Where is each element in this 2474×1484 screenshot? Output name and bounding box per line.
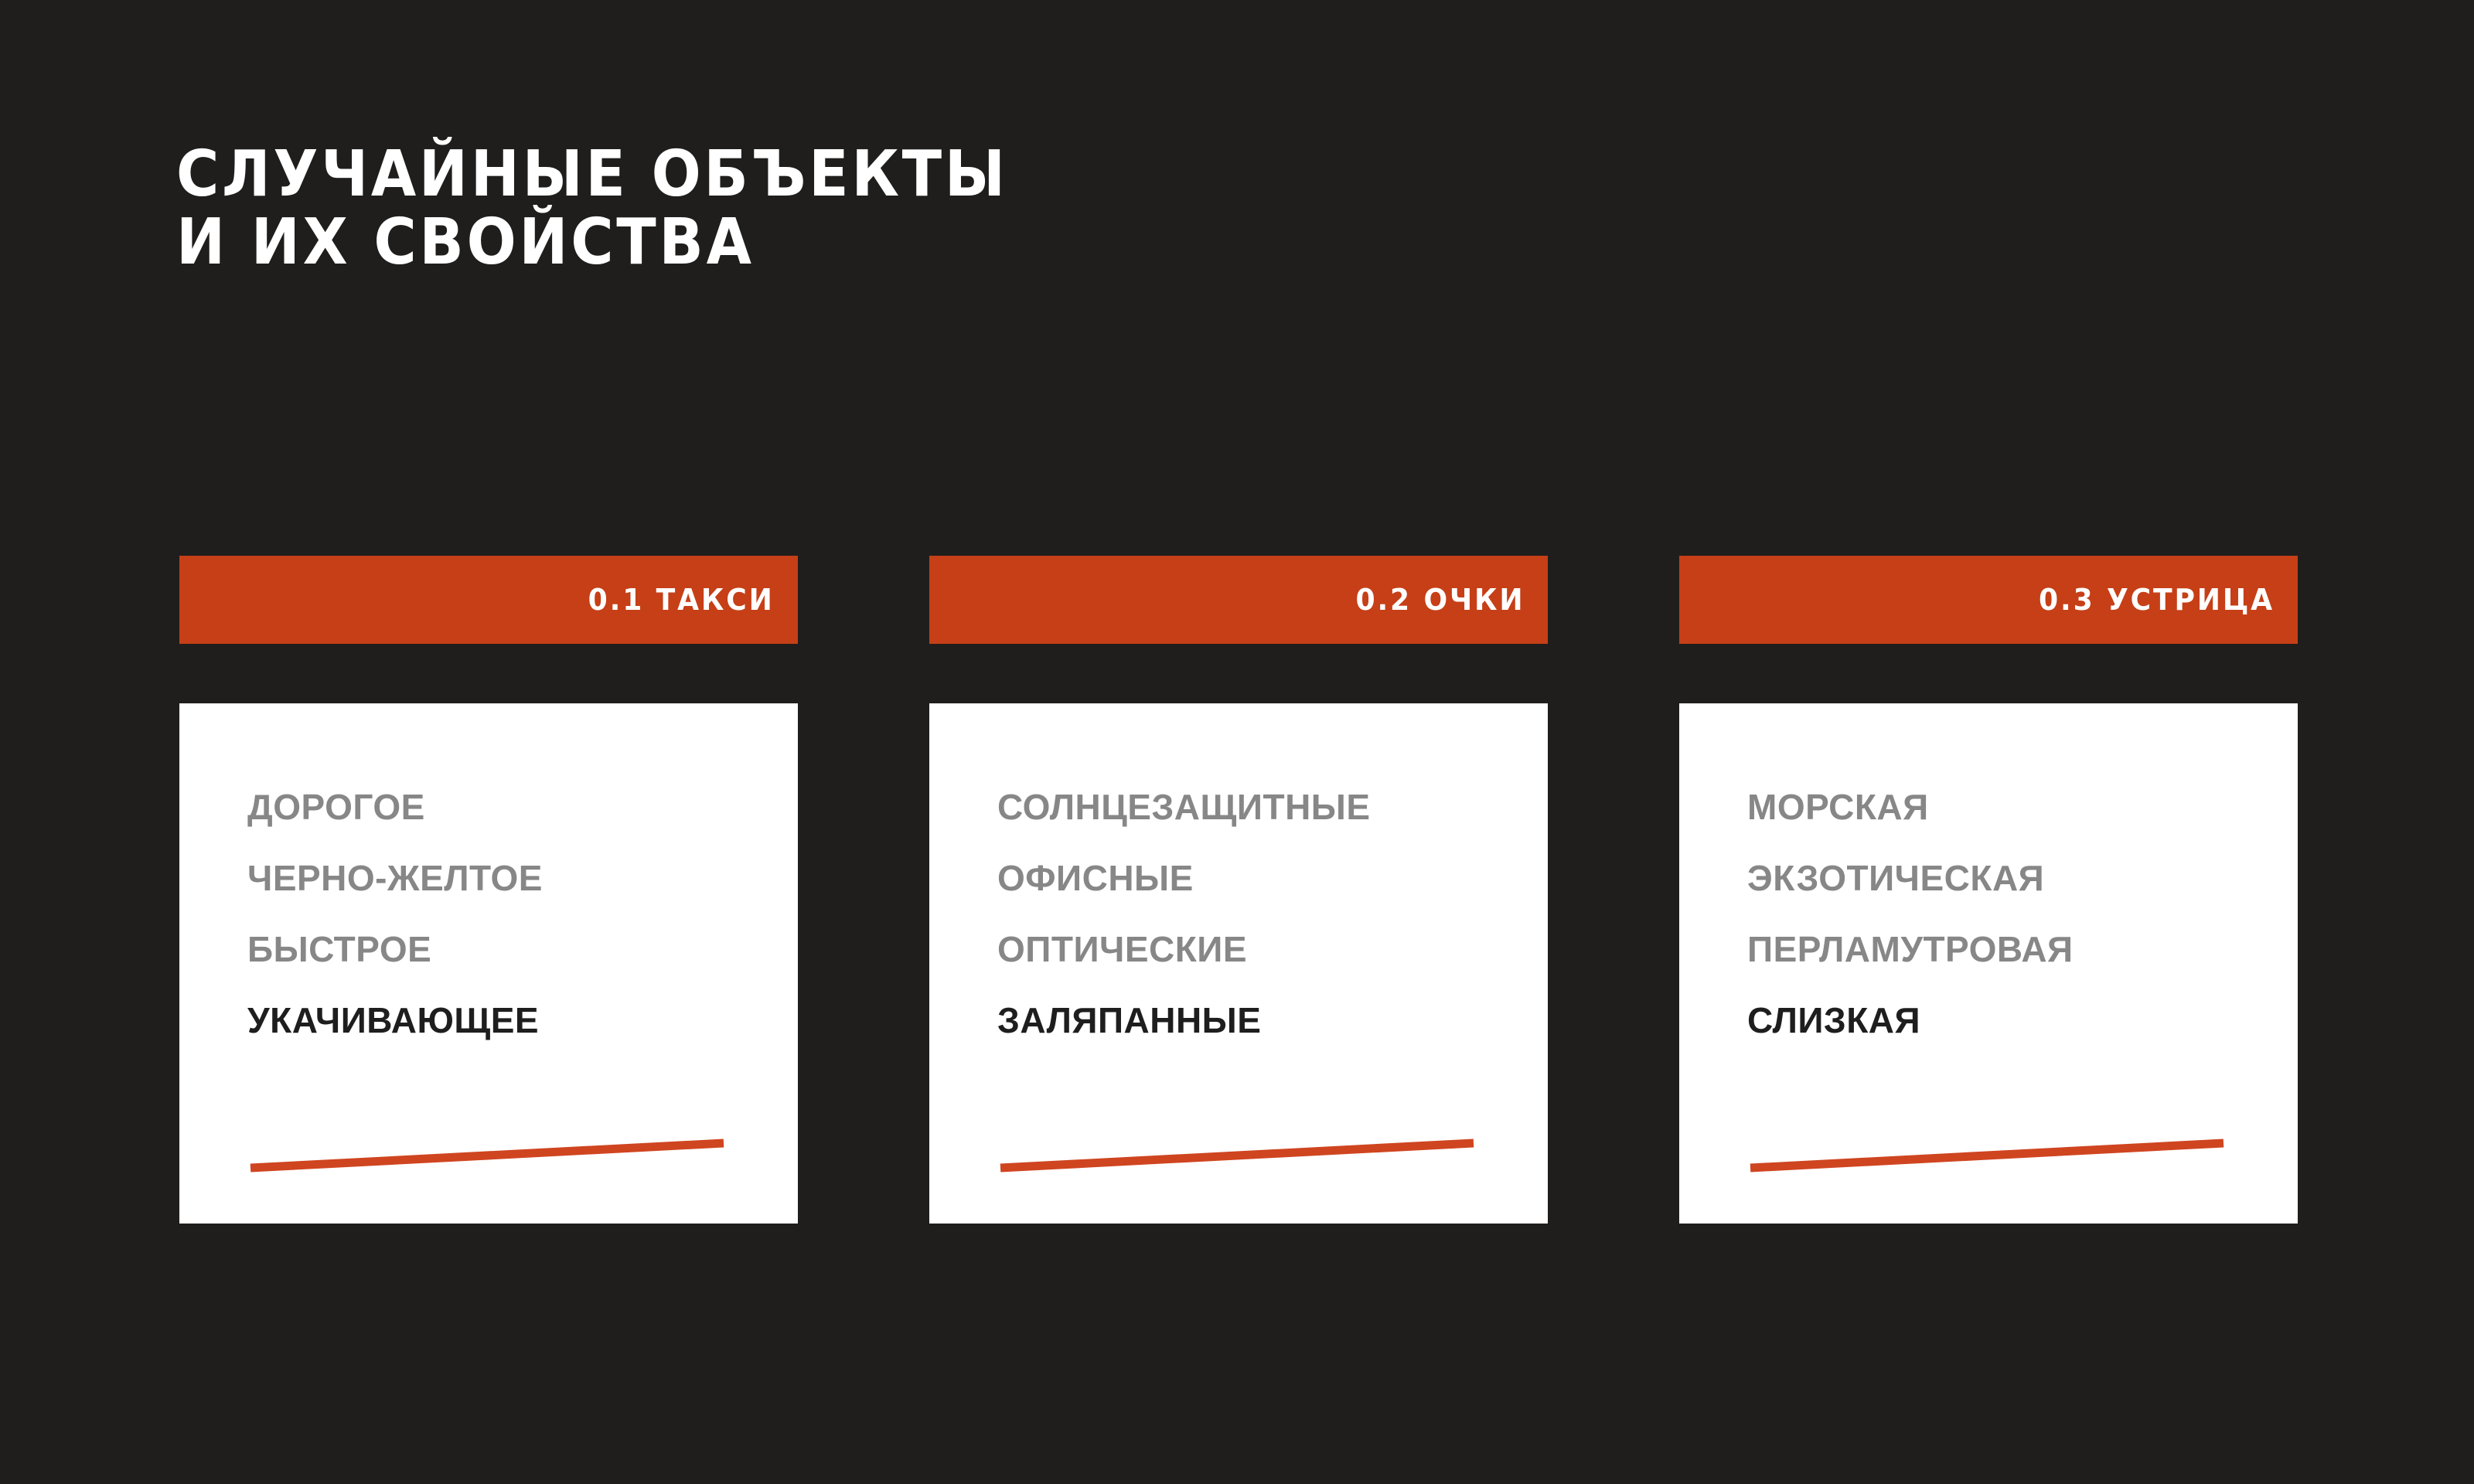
card-body-taxi: ДОРОГОЕ ЧЕРНО-ЖЕЛТОЕ БЫСТРОЕ УКАЧИВАЮЩЕЕ [179,703,798,1224]
object-card-taxi: 0.1 ТАКСИ ДОРОГОЕ ЧЕРНО-ЖЕЛТОЕ БЫСТРОЕ У… [179,556,798,1224]
page-title-line-1: СЛУЧАЙНЫЕ ОБЪЕКТЫ [176,141,1599,209]
list-item: МОРСКАЯ [1747,784,2298,831]
property-list: МОРСКАЯ ЭКЗОТИЧЕСКАЯ ПЕРЛАМУТРОВАЯ СЛИЗК… [1747,784,2298,1044]
list-item-highlight: УКАЧИВАЮЩЕЕ [247,997,798,1044]
card-header-taxi[interactable]: 0.1 ТАКСИ [179,556,798,644]
highlight-underline-icon [247,1132,727,1179]
card-header-oyster[interactable]: 0.3 УСТРИЦА [1679,556,2298,644]
list-item-highlight: СЛИЗКАЯ [1747,997,2298,1044]
list-item: ДОРОГОЕ [247,784,798,831]
list-item: СОЛНЦЕЗАЩИТНЫЕ [997,784,1548,831]
card-header-label: 0.1 ТАКСИ [588,583,775,617]
slide-canvas: СЛУЧАЙНЫЕ ОБЪЕКТЫ И ИХ СВОЙСТВА 0.1 ТАКС… [0,0,2474,1484]
card-body-glasses: СОЛНЦЕЗАЩИТНЫЕ ОФИСНЫЕ ОПТИЧЕСКИЕ ЗАЛЯПА… [929,703,1548,1224]
highlight-underline-icon [1747,1132,2227,1179]
object-card-oyster: 0.3 УСТРИЦА МОРСКАЯ ЭКЗОТИЧЕСКАЯ ПЕРЛАМУ… [1679,556,2298,1224]
highlight-underline-icon [997,1132,1477,1179]
list-item: ПЕРЛАМУТРОВАЯ [1747,926,2298,973]
property-list: СОЛНЦЕЗАЩИТНЫЕ ОФИСНЫЕ ОПТИЧЕСКИЕ ЗАЛЯПА… [997,784,1548,1044]
list-item: ОПТИЧЕСКИЕ [997,926,1548,973]
card-header-label: 0.2 ОЧКИ [1355,583,1525,617]
list-item: ЭКЗОТИЧЕСКАЯ [1747,855,2298,902]
list-item: БЫСТРОЕ [247,926,798,973]
card-header-glasses[interactable]: 0.2 ОЧКИ [929,556,1548,644]
property-list: ДОРОГОЕ ЧЕРНО-ЖЕЛТОЕ БЫСТРОЕ УКАЧИВАЮЩЕЕ [247,784,798,1044]
card-header-label: 0.3 УСТРИЦА [2039,583,2275,617]
page-title-line-2: И ИХ СВОЙСТВА [176,209,1599,277]
page-title: СЛУЧАЙНЫЕ ОБЪЕКТЫ И ИХ СВОЙСТВА [176,141,1723,277]
object-card-glasses: 0.2 ОЧКИ СОЛНЦЕЗАЩИТНЫЕ ОФИСНЫЕ ОПТИЧЕСК… [929,556,1548,1224]
card-body-oyster: МОРСКАЯ ЭКЗОТИЧЕСКАЯ ПЕРЛАМУТРОВАЯ СЛИЗК… [1679,703,2298,1224]
list-item-highlight: ЗАЛЯПАННЫЕ [997,997,1548,1044]
object-cards-grid: 0.1 ТАКСИ ДОРОГОЕ ЧЕРНО-ЖЕЛТОЕ БЫСТРОЕ У… [179,556,2298,1224]
list-item: ОФИСНЫЕ [997,855,1548,902]
list-item: ЧЕРНО-ЖЕЛТОЕ [247,855,798,902]
